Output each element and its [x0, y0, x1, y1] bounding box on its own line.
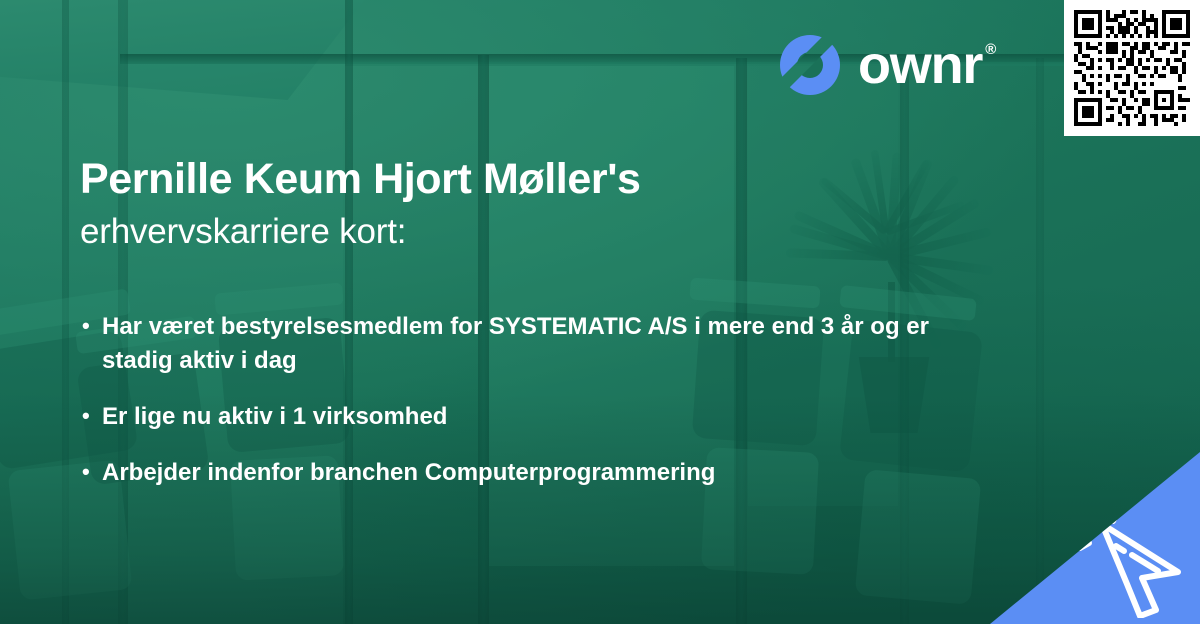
brand-name: ownr: [858, 38, 982, 92]
business-card-banner: ownr ® Pernille Keum Hjort Møller's erhv…: [0, 0, 1200, 624]
list-item: • Er lige nu aktiv i 1 virksomhed: [82, 400, 962, 434]
qr-code-icon: [1074, 10, 1190, 126]
list-item: • Har været bestyrelsesmedlem for SYSTEM…: [82, 310, 962, 378]
brand-logo[interactable]: ownr ®: [778, 33, 995, 97]
page-title: Pernille Keum Hjort Møller's erhvervskar…: [80, 155, 641, 256]
list-item: • Arbejder indenfor branchen Computerpro…: [82, 456, 962, 490]
list-item-label: Har været bestyrelsesmedlem for SYSTEMAT…: [102, 310, 962, 378]
career-facts-list: • Har været bestyrelsesmedlem for SYSTEM…: [82, 310, 962, 512]
qr-code[interactable]: [1064, 0, 1200, 136]
list-item-label: Arbejder indenfor branchen Computerprogr…: [102, 456, 962, 490]
ownr-circle-logo-icon: [778, 33, 842, 97]
registered-trademark-icon: ®: [985, 42, 995, 57]
bullet-marker-icon: •: [82, 456, 102, 487]
bullet-marker-icon: •: [82, 400, 102, 431]
headline-subtitle: erhvervskarriere kort:: [80, 208, 641, 255]
list-item-label: Er lige nu aktiv i 1 virksomhed: [102, 400, 962, 434]
headline-name: Pernille Keum Hjort Møller's: [80, 155, 641, 204]
bullet-marker-icon: •: [82, 310, 102, 341]
brand-wordmark: ownr ®: [858, 38, 995, 92]
